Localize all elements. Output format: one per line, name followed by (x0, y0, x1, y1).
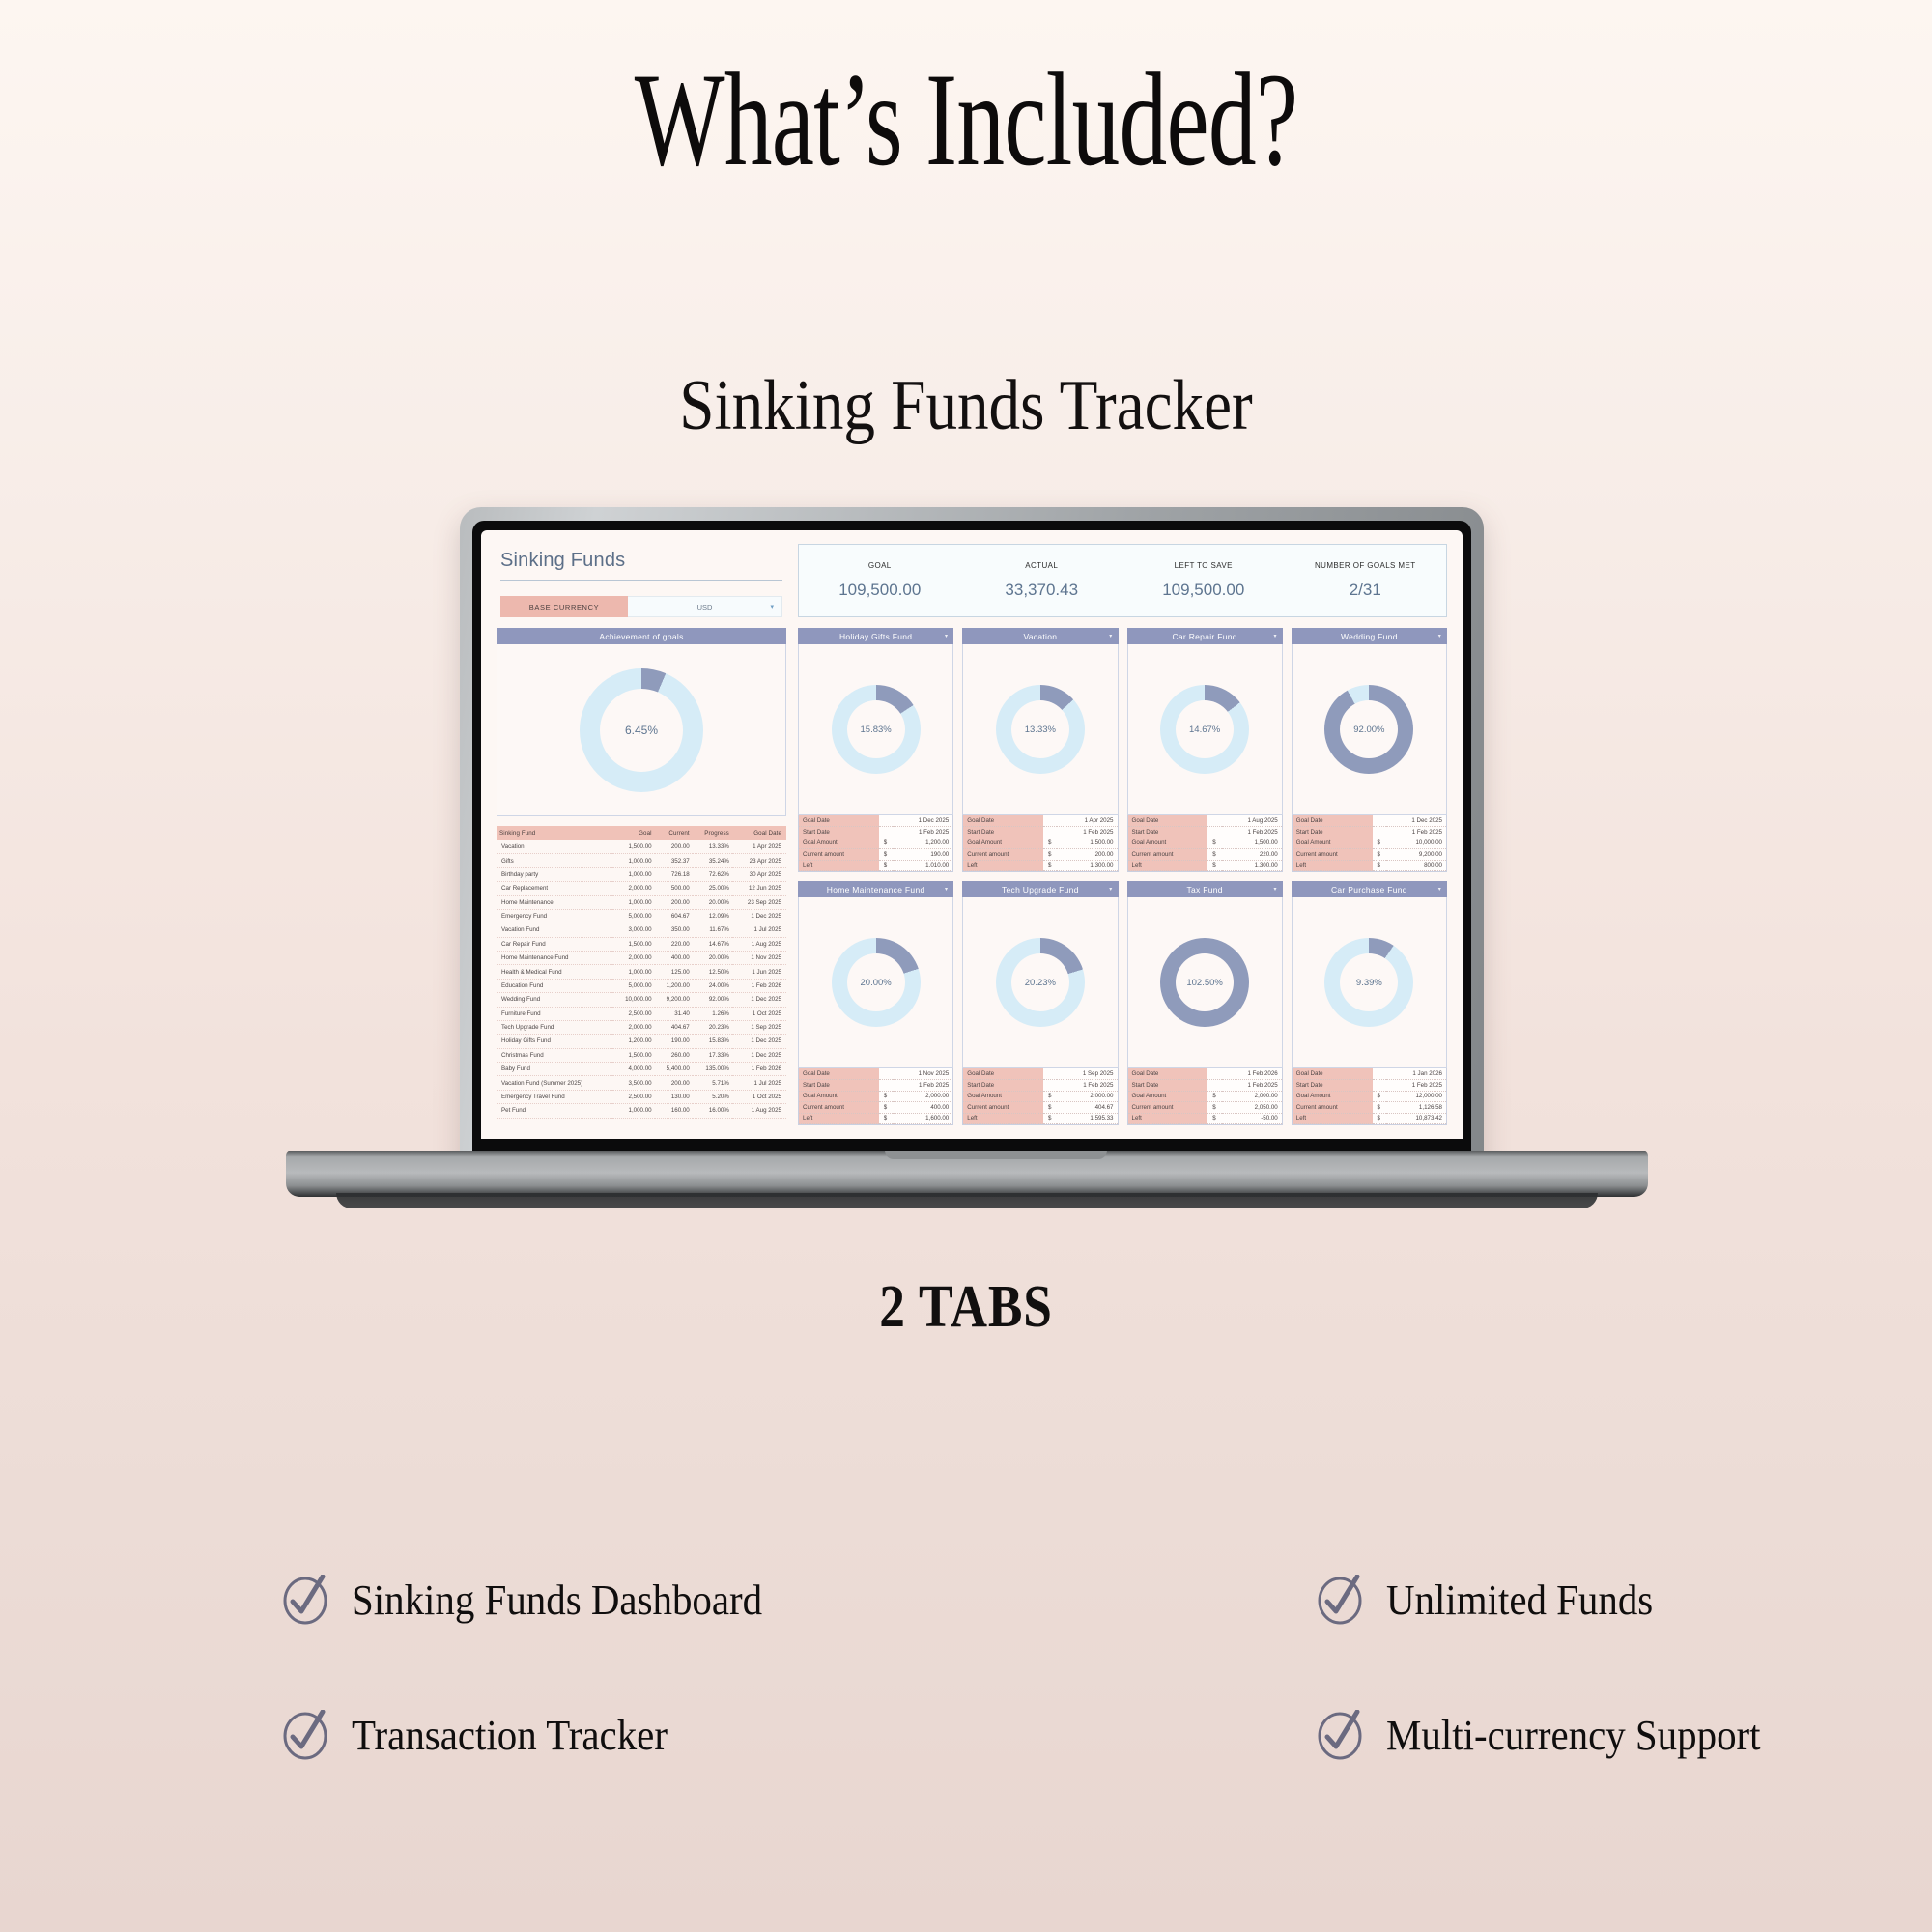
fund-card-title: Wedding Fund (1341, 632, 1398, 641)
detail-label: Left (1128, 860, 1208, 871)
check-circle-icon (1315, 1575, 1365, 1625)
detail-label: Goal Amount (963, 1091, 1043, 1102)
detail-label: Goal Amount (799, 838, 879, 849)
dashboard-body-region: Achievement of goals 6.45% Sinking FundG… (497, 628, 1447, 1125)
fund-card-header[interactable]: Tech Upgrade Fund▾ (962, 881, 1118, 897)
table-cell: 1,200.00 (612, 1035, 655, 1048)
detail-value: 1,600.00 (893, 1113, 952, 1124)
detail-row: Goal Amount$10,000.00 (1293, 838, 1446, 849)
fund-detail-table: Goal Date1 Feb 2026Start Date1 Feb 2025G… (1127, 1068, 1283, 1125)
fund-detail-table: Goal Date1 Aug 2025Start Date1 Feb 2025G… (1127, 815, 1283, 872)
table-cell: Emergency Travel Fund (497, 1090, 612, 1103)
detail-row: Goal Date1 Dec 2025 (1293, 815, 1446, 827)
table-cell: 400.00 (655, 952, 693, 965)
detail-label: Goal Date (799, 1068, 879, 1080)
detail-value: 1,300.00 (1222, 860, 1282, 871)
fund-donut: 102.50% (1160, 938, 1249, 1027)
feature-label: Unlimited Funds (1386, 1576, 1653, 1625)
detail-row: Start Date1 Feb 2025 (1128, 1080, 1282, 1092)
table-cell: 20.00% (693, 895, 732, 909)
fund-card-5: Tech Upgrade Fund▾20.23%Goal Date1 Sep 2… (962, 881, 1118, 1125)
detail-label: Goal Date (1293, 1068, 1373, 1080)
detail-label: Current amount (799, 1102, 879, 1114)
detail-value: 1 Feb 2025 (1207, 827, 1281, 838)
detail-currency: $ (1207, 849, 1221, 861)
page-title: What’s Included? (270, 50, 1662, 190)
table-cell: Vacation Fund (Summer 2025) (497, 1076, 612, 1090)
chevron-down-icon[interactable]: ▾ (945, 633, 948, 639)
detail-label: Start Date (799, 827, 879, 838)
laptop-lid: Sinking Funds BASE CURRENCY USD ▾ GOAL10… (460, 507, 1484, 1174)
fund-percent-label: 14.67% (1160, 685, 1249, 774)
detail-value: 200.00 (1057, 849, 1117, 861)
detail-row: Left$1,300.00 (1128, 860, 1282, 871)
table-cell: 1 Jun 2025 (732, 965, 786, 979)
fund-card-header[interactable]: Tax Fund▾ (1127, 881, 1283, 897)
fund-cards-grid: Holiday Gifts Fund▾15.83%Goal Date1 Dec … (798, 628, 1447, 1125)
detail-label: Start Date (1293, 827, 1373, 838)
table-cell: 13.33% (693, 840, 732, 854)
table-cell: 25.00% (693, 882, 732, 895)
detail-currency: $ (1373, 849, 1386, 861)
feature-column-left: Sinking Funds DashboardTransaction Track… (280, 1575, 793, 1760)
detail-label: Current amount (1293, 1102, 1373, 1114)
table-row: Education Fund5,000.001,200.0024.00%1 Fe… (497, 979, 786, 992)
detail-row: Goal Amount$2,000.00 (963, 1091, 1117, 1102)
table-cell: 125.00 (655, 965, 693, 979)
column-header-2: Current (655, 826, 693, 840)
table-cell: 1,200.00 (655, 979, 693, 992)
detail-currency: $ (1043, 1102, 1057, 1114)
feature-item-left-1: Transaction Tracker (280, 1710, 793, 1760)
detail-value: 2,050.00 (1222, 1102, 1282, 1114)
column-header-0: Sinking Fund (497, 826, 612, 840)
fund-percent-label: 13.33% (996, 685, 1085, 774)
table-cell: 1 Dec 2025 (732, 993, 786, 1007)
detail-value: 10,000.00 (1386, 838, 1446, 849)
detail-row: Current amount$2,050.00 (1128, 1102, 1282, 1114)
fund-donut-chart: 13.33% (962, 644, 1118, 815)
table-row: Car Replacement2,000.00500.0025.00%12 Ju… (497, 882, 786, 895)
fund-card-3: Wedding Fund▾92.00%Goal Date1 Dec 2025St… (1292, 628, 1447, 872)
chevron-down-icon[interactable]: ▾ (945, 886, 948, 893)
table-cell: Birthday party (497, 867, 612, 881)
table-cell: 4,000.00 (612, 1063, 655, 1076)
detail-currency: $ (879, 838, 893, 849)
feature-item-right-0: Unlimited Funds (1315, 1575, 1789, 1625)
table-cell: Car Replacement (497, 882, 612, 895)
detail-currency: $ (1373, 1113, 1386, 1124)
detail-row: Goal Amount$2,000.00 (799, 1091, 952, 1102)
detail-label: Left (1293, 1113, 1373, 1124)
detail-value: 800.00 (1386, 860, 1446, 871)
detail-label: Start Date (1293, 1080, 1373, 1092)
kpi-summary-panel: GOAL109,500.00ACTUAL33,370.43LEFT TO SAV… (798, 544, 1447, 617)
detail-label: Goal Amount (1128, 1091, 1208, 1102)
table-cell: 350.00 (655, 923, 693, 937)
fund-card-4: Home Maintenance Fund▾20.00%Goal Date1 N… (798, 881, 953, 1125)
feature-label: Multi-currency Support (1386, 1711, 1761, 1760)
table-cell: 1 Feb 2026 (732, 1063, 786, 1076)
detail-label: Start Date (1128, 827, 1208, 838)
table-cell: 135.00% (693, 1063, 732, 1076)
feature-label: Transaction Tracker (352, 1711, 668, 1760)
chevron-down-icon[interactable]: ▾ (1109, 633, 1112, 639)
table-row: Health & Medical Fund1,000.00125.0012.50… (497, 965, 786, 979)
table-cell: Pet Fund (497, 1104, 612, 1118)
table-cell: Car Repair Fund (497, 937, 612, 951)
table-cell: 404.67 (655, 1020, 693, 1034)
table-cell: 2,000.00 (612, 952, 655, 965)
kpi-value: 109,500.00 (799, 581, 961, 600)
table-cell: 1 Dec 2025 (732, 1048, 786, 1062)
fund-percent-label: 15.83% (832, 685, 921, 774)
table-cell: 72.62% (693, 867, 732, 881)
detail-label: Goal Date (963, 815, 1043, 827)
table-cell: 1,500.00 (612, 840, 655, 854)
detail-value: 1 Nov 2025 (879, 1068, 952, 1080)
fund-percent-label: 102.50% (1160, 938, 1249, 1027)
detail-value: 1 Feb 2025 (1373, 1080, 1446, 1092)
table-cell: 604.67 (655, 909, 693, 923)
fund-percent-label: 9.39% (1324, 938, 1413, 1027)
detail-label: Start Date (799, 1080, 879, 1092)
base-currency-label: BASE CURRENCY (500, 596, 628, 617)
detail-row: Goal Amount$1,200.00 (799, 838, 952, 849)
detail-row: Current amount$1,126.58 (1293, 1102, 1446, 1114)
fund-cards-row-1: Holiday Gifts Fund▾15.83%Goal Date1 Dec … (798, 628, 1447, 872)
table-cell: 3,000.00 (612, 923, 655, 937)
feature-list: Sinking Funds DashboardTransaction Track… (0, 1575, 1932, 1760)
detail-value: 404.67 (1057, 1102, 1117, 1114)
table-cell: 3,500.00 (612, 1076, 655, 1090)
detail-currency: $ (1373, 838, 1386, 849)
detail-currency: $ (1043, 1113, 1057, 1124)
fund-card-1: Vacation▾13.33%Goal Date1 Apr 2025Start … (962, 628, 1118, 872)
laptop-bezel: Sinking Funds BASE CURRENCY USD ▾ GOAL10… (472, 521, 1471, 1156)
tabs-count-label: 2 TABS (135, 1273, 1797, 1342)
fund-donut-chart: 9.39% (1292, 897, 1447, 1068)
detail-value: 1 Dec 2025 (879, 815, 952, 827)
detail-currency: $ (1043, 838, 1057, 849)
table-header-row: Sinking FundGoalCurrentProgressGoal Date (497, 826, 786, 840)
kpi-label: LEFT TO SAVE (1122, 561, 1285, 570)
table-cell: 220.00 (655, 937, 693, 951)
detail-row: Left$1,010.00 (799, 860, 952, 871)
detail-row: Start Date1 Feb 2025 (963, 1080, 1117, 1092)
check-circle-icon (280, 1575, 330, 1625)
chevron-down-icon[interactable]: ▾ (1438, 886, 1441, 893)
fund-detail-table: Goal Date1 Nov 2025Start Date1 Feb 2025G… (798, 1068, 953, 1125)
detail-row: Goal Date1 Apr 2025 (963, 815, 1117, 827)
table-cell: 1 Apr 2025 (732, 840, 786, 854)
fund-card-7: Car Purchase Fund▾9.39%Goal Date1 Jan 20… (1292, 881, 1447, 1125)
laptop-screen: Sinking Funds BASE CURRENCY USD ▾ GOAL10… (481, 530, 1463, 1139)
detail-currency: $ (1043, 1091, 1057, 1102)
table-cell: 1 Nov 2025 (732, 952, 786, 965)
fund-donut: 13.33% (996, 685, 1085, 774)
base-currency-select[interactable]: USD ▾ (628, 596, 782, 617)
column-header-4: Goal Date (732, 826, 786, 840)
product-subtitle: Sinking Funds Tracker (116, 365, 1816, 447)
column-header-1: Goal (612, 826, 655, 840)
kpi-value: 33,370.43 (961, 581, 1123, 600)
detail-value: 1 Sep 2025 (1043, 1068, 1117, 1080)
table-row: Wedding Fund10,000.009,200.0092.00%1 Dec… (497, 993, 786, 1007)
detail-label: Current amount (963, 849, 1043, 861)
detail-row: Left$800.00 (1293, 860, 1446, 871)
table-cell: 5.71% (693, 1076, 732, 1090)
detail-label: Current amount (1293, 849, 1373, 861)
table-row: Home Maintenance Fund2,000.00400.0020.00… (497, 952, 786, 965)
sheet-title: Sinking Funds (497, 544, 786, 580)
detail-currency: $ (1207, 1113, 1221, 1124)
laptop-base-notch (885, 1151, 1107, 1159)
table-cell: 10,000.00 (612, 993, 655, 1007)
detail-label: Goal Date (799, 815, 879, 827)
check-circle-icon (280, 1710, 330, 1760)
table-cell: 1 Aug 2025 (732, 937, 786, 951)
detail-label: Goal Date (963, 1068, 1043, 1080)
dashboard-top-region: Sinking Funds BASE CURRENCY USD ▾ GOAL10… (497, 544, 1447, 617)
table-cell: Gifts (497, 854, 612, 867)
detail-value: 1 Feb 2025 (879, 827, 952, 838)
table-cell: 16.00% (693, 1104, 732, 1118)
kpi-value: 2/31 (1285, 581, 1447, 600)
fund-card-title: Car Repair Fund (1172, 632, 1236, 641)
detail-label: Current amount (799, 849, 879, 861)
detail-row: Current amount$200.00 (963, 849, 1117, 861)
sinking-funds-table: Sinking FundGoalCurrentProgressGoal Date… (497, 826, 786, 1119)
laptop-mockup: Sinking Funds BASE CURRENCY USD ▾ GOAL10… (286, 507, 1648, 1212)
detail-currency: $ (1207, 838, 1221, 849)
detail-row: Start Date1 Feb 2025 (963, 827, 1117, 838)
kpi-label: NUMBER OF GOALS MET (1285, 561, 1447, 570)
table-cell: 1 Dec 2025 (732, 1035, 786, 1048)
detail-value: 2,000.00 (893, 1091, 952, 1102)
detail-label: Left (1293, 860, 1373, 871)
fund-donut: 15.83% (832, 685, 921, 774)
table-cell: Tech Upgrade Fund (497, 1020, 612, 1034)
achievement-donut: 6.45% (580, 668, 703, 792)
detail-row: Goal Date1 Dec 2025 (799, 815, 952, 827)
detail-row: Left$1,595.33 (963, 1113, 1117, 1124)
table-row: Home Maintenance1,000.00200.0020.00%23 S… (497, 895, 786, 909)
fund-donut: 20.23% (996, 938, 1085, 1027)
fund-card-header[interactable]: Car Purchase Fund▾ (1292, 881, 1447, 897)
detail-value: 1 Jan 2026 (1373, 1068, 1446, 1080)
table-cell: 92.00% (693, 993, 732, 1007)
detail-currency: $ (879, 860, 893, 871)
table-cell: 260.00 (655, 1048, 693, 1062)
fund-percent-label: 20.23% (996, 938, 1085, 1027)
table-cell: Baby Fund (497, 1063, 612, 1076)
chevron-down-icon[interactable]: ▾ (1273, 633, 1276, 639)
detail-label: Start Date (1128, 1080, 1208, 1092)
table-cell: 30 Apr 2025 (732, 867, 786, 881)
table-cell: Furniture Fund (497, 1007, 612, 1020)
detail-value: 9,200.00 (1386, 849, 1446, 861)
detail-value: 190.00 (893, 849, 952, 861)
detail-value: 1,500.00 (1222, 838, 1282, 849)
fund-card-title: Vacation (1023, 632, 1057, 641)
table-row: Car Repair Fund1,500.00220.0014.67%1 Aug… (497, 937, 786, 951)
fund-percent-label: 20.00% (832, 938, 921, 1027)
table-cell: 190.00 (655, 1035, 693, 1048)
detail-row: Goal Date1 Aug 2025 (1128, 815, 1282, 827)
table-cell: 23 Sep 2025 (732, 895, 786, 909)
fund-donut-chart: 92.00% (1292, 644, 1447, 815)
detail-value: 220.00 (1222, 849, 1282, 861)
table-cell: Home Maintenance Fund (497, 952, 612, 965)
detail-row: Goal Date1 Feb 2026 (1128, 1068, 1282, 1080)
fund-detail-table: Goal Date1 Dec 2025Start Date1 Feb 2025G… (798, 815, 953, 872)
table-row: Emergency Travel Fund2,500.00130.005.20%… (497, 1090, 786, 1103)
table-cell: 1 Jul 2025 (732, 923, 786, 937)
detail-value: 1 Aug 2025 (1207, 815, 1281, 827)
detail-row: Start Date1 Feb 2025 (1128, 827, 1282, 838)
detail-label: Goal Amount (799, 1091, 879, 1102)
kpi-label: ACTUAL (961, 561, 1123, 570)
detail-row: Goal Amount$12,000.00 (1293, 1091, 1446, 1102)
table-cell: Christmas Fund (497, 1048, 612, 1062)
table-cell: 9,200.00 (655, 993, 693, 1007)
detail-value: 1 Dec 2025 (1373, 815, 1446, 827)
table-row: Gifts1,000.00352.3735.24%23 Apr 2025 (497, 854, 786, 867)
feature-item-left-0: Sinking Funds Dashboard (280, 1575, 793, 1625)
detail-currency: $ (1373, 1102, 1386, 1114)
achievement-card-header: Achievement of goals (497, 628, 786, 644)
table-cell: 1 Oct 2025 (732, 1007, 786, 1020)
table-cell: 11.67% (693, 923, 732, 937)
fund-card-header[interactable]: Vacation▾ (962, 628, 1118, 644)
fund-card-title: Holiday Gifts Fund (839, 632, 912, 641)
detail-currency: $ (879, 849, 893, 861)
fund-donut-chart: 20.23% (962, 897, 1118, 1068)
detail-value: 400.00 (893, 1102, 952, 1114)
detail-row: Goal Amount$1,500.00 (963, 838, 1117, 849)
detail-value: 1 Feb 2025 (1207, 1080, 1281, 1092)
achievement-column: Achievement of goals 6.45% Sinking FundG… (497, 628, 786, 1125)
detail-label: Left (1128, 1113, 1208, 1124)
chevron-down-icon[interactable]: ▾ (1109, 886, 1112, 893)
fund-card-header[interactable]: Car Repair Fund▾ (1127, 628, 1283, 644)
detail-value: -50.00 (1222, 1113, 1282, 1124)
fund-percent-label: 92.00% (1324, 685, 1413, 774)
laptop-base (286, 1151, 1648, 1197)
fund-cards-row-2: Home Maintenance Fund▾20.00%Goal Date1 N… (798, 881, 1447, 1125)
fund-donut: 9.39% (1324, 938, 1413, 1027)
chevron-down-icon: ▾ (770, 603, 774, 611)
detail-label: Goal Amount (1293, 838, 1373, 849)
table-cell: 1 Oct 2025 (732, 1090, 786, 1103)
table-cell: 2,000.00 (612, 882, 655, 895)
table-cell: 1,000.00 (612, 965, 655, 979)
detail-currency: $ (1373, 860, 1386, 871)
table-cell: 200.00 (655, 840, 693, 854)
achievement-card-title: Achievement of goals (599, 632, 683, 641)
fund-detail-table: Goal Date1 Jan 2026Start Date1 Feb 2025G… (1292, 1068, 1447, 1125)
chevron-down-icon[interactable]: ▾ (1273, 886, 1276, 893)
table-cell: 1,500.00 (612, 937, 655, 951)
detail-value: 1,010.00 (893, 860, 952, 871)
feature-item-right-1: Multi-currency Support (1315, 1710, 1789, 1760)
detail-label: Current amount (963, 1102, 1043, 1114)
detail-row: Start Date1 Feb 2025 (1293, 1080, 1446, 1092)
table-cell: 1.26% (693, 1007, 732, 1020)
achievement-chart: 6.45% (497, 644, 786, 816)
detail-row: Left$1,600.00 (799, 1113, 952, 1124)
table-row: Baby Fund4,000.005,400.00135.00%1 Feb 20… (497, 1063, 786, 1076)
detail-value: 2,000.00 (1057, 1091, 1117, 1102)
achievement-percent: 6.45% (580, 668, 703, 792)
detail-currency: $ (1043, 849, 1057, 861)
detail-label: Goal Date (1128, 1068, 1208, 1080)
base-currency-row: BASE CURRENCY USD ▾ (500, 596, 782, 617)
table-cell: 24.00% (693, 979, 732, 992)
fund-donut-chart: 14.67% (1127, 644, 1283, 815)
detail-row: Left$1,300.00 (963, 860, 1117, 871)
detail-value: 2,000.00 (1222, 1091, 1282, 1102)
detail-label: Current amount (1128, 849, 1208, 861)
detail-row: Left$10,873.42 (1293, 1113, 1446, 1124)
table-cell: 12.50% (693, 965, 732, 979)
table-cell: 1 Feb 2026 (732, 979, 786, 992)
detail-label: Goal Date (1293, 815, 1373, 827)
table-cell: Health & Medical Fund (497, 965, 612, 979)
table-cell: 20.23% (693, 1020, 732, 1034)
dashboard-brand-area: Sinking Funds BASE CURRENCY USD ▾ (497, 544, 786, 617)
title-divider (500, 580, 782, 581)
fund-card-header[interactable]: Wedding Fund▾ (1292, 628, 1447, 644)
table-cell: 17.33% (693, 1048, 732, 1062)
detail-currency: $ (1373, 1091, 1386, 1102)
fund-donut: 20.00% (832, 938, 921, 1027)
detail-currency: $ (879, 1102, 893, 1114)
column-header-3: Progress (693, 826, 732, 840)
table-cell: 2,000.00 (612, 1020, 655, 1034)
detail-value: 1,500.00 (1057, 838, 1117, 849)
detail-label: Goal Amount (1128, 838, 1208, 849)
table-row: Christmas Fund1,500.00260.0017.33%1 Dec … (497, 1048, 786, 1062)
fund-card-0: Holiday Gifts Fund▾15.83%Goal Date1 Dec … (798, 628, 953, 872)
table-cell: 31.40 (655, 1007, 693, 1020)
detail-value: 1,126.58 (1386, 1102, 1446, 1114)
fund-donut: 14.67% (1160, 685, 1249, 774)
detail-row: Current amount$9,200.00 (1293, 849, 1446, 861)
table-cell: 12.09% (693, 909, 732, 923)
table-cell: Education Fund (497, 979, 612, 992)
fund-card-header[interactable]: Holiday Gifts Fund▾ (798, 628, 953, 644)
feature-column-right: Unlimited FundsMulti-currency Support (793, 1575, 1789, 1760)
detail-row: Current amount$220.00 (1128, 849, 1282, 861)
detail-value: 1 Feb 2025 (1373, 827, 1446, 838)
detail-value: 1 Feb 2025 (1043, 827, 1117, 838)
fund-card-header[interactable]: Home Maintenance Fund▾ (798, 881, 953, 897)
detail-row: Current amount$190.00 (799, 849, 952, 861)
table-cell: 130.00 (655, 1090, 693, 1103)
detail-value: 12,000.00 (1386, 1091, 1446, 1102)
chevron-down-icon[interactable]: ▾ (1438, 633, 1441, 639)
detail-label: Left (799, 860, 879, 871)
detail-row: Start Date1 Feb 2025 (799, 1080, 952, 1092)
detail-currency: $ (879, 1091, 893, 1102)
table-cell: 1,500.00 (612, 1048, 655, 1062)
check-circle-icon (1315, 1710, 1365, 1760)
table-cell: 12 Jun 2025 (732, 882, 786, 895)
table-cell: 5.20% (693, 1090, 732, 1103)
table-row: Vacation Fund (Summer 2025)3,500.00200.0… (497, 1076, 786, 1090)
